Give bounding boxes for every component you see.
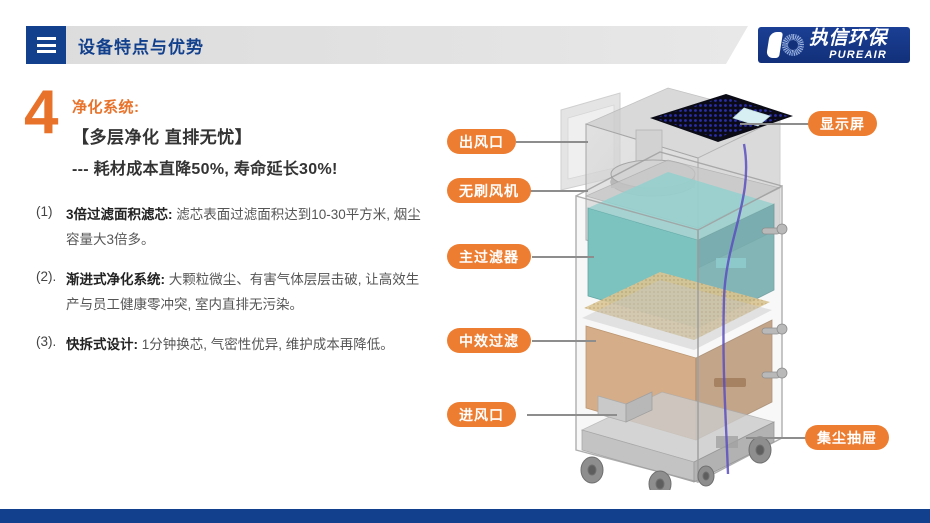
leader-line-air-outlet [516,141,588,143]
list-item-body: 3倍过滤面积滤芯: 滤芯表面过滤面积达到10-30平方米, 烟尘容量大3倍多。 [66,203,426,253]
list-item: (3). 快拆式设计: 1分钟换芯, 气密性优异, 维护成本再降低。 [36,333,426,358]
page-title: 设备特点与优势 [78,26,204,64]
list-item-bold: 快拆式设计: [66,337,138,352]
list-item-bold: 渐进式净化系统: [66,272,165,287]
device-illustration [548,78,808,490]
list-item: (1) 3倍过滤面积滤芯: 滤芯表面过滤面积达到10-30平方米, 烟尘容量大3… [36,203,426,253]
leader-line-display-screen [740,123,812,125]
section-subtitle: 净化系统: [72,96,432,117]
brand-logo: 执信环保 PUREAIR [758,27,910,63]
section-headline: 【多层净化 直排无忧】 [72,123,432,148]
footer-bar [0,509,930,523]
callout-display-screen[interactable]: 显示屏 [808,111,877,136]
list-item-body: 快拆式设计: 1分钟换芯, 气密性优异, 维护成本再降低。 [66,333,394,358]
leader-line-main-filter [532,256,594,258]
section-headings: 净化系统: 【多层净化 直排无忧】 --- 耗材成本直降50%, 寿命延长30%… [72,96,432,179]
menu-button[interactable] [26,26,66,64]
hamburger-icon [37,37,56,53]
list-item-bold: 3倍过滤面积滤芯: [66,207,173,222]
slide-root: 设备特点与优势 执信环保 PUREAIR 4 净化系统: 【多层净化 直排无忧】… [0,0,930,523]
callout-air-outlet[interactable]: 出风口 [447,129,516,154]
list-item-index: (3). [36,333,66,358]
leader-line-air-inlet [527,414,617,416]
list-item-index: (1) [36,203,66,253]
callout-main-filter[interactable]: 主过滤器 [447,244,531,269]
list-item: (2). 渐进式净化系统: 大颗粒微尘、有害气体层层击破, 让高效生产与员工健康… [36,268,426,318]
callout-medium-filter[interactable]: 中效过滤 [447,328,531,353]
list-item-body: 渐进式净化系统: 大颗粒微尘、有害气体层层击破, 让高效生产与员工健康零冲突, … [66,268,426,318]
leader-line-dust-drawer [746,437,810,439]
logo-chinese-name: 执信环保 [809,29,887,48]
logo-english-name: PUREAIR [809,50,887,61]
pureair-mark-icon [765,30,807,60]
list-item-text: 1分钟换芯, 气密性优异, 维护成本再降低。 [138,337,394,352]
leader-line-medium-filter [532,340,596,342]
list-item-index: (2). [36,268,66,318]
callout-dust-drawer[interactable]: 集尘抽屉 [805,425,889,450]
callout-air-inlet[interactable]: 进风口 [447,402,516,427]
section-number: 4 [24,84,58,143]
callout-brushless-fan[interactable]: 无刷风机 [447,178,531,203]
feature-list: (1) 3倍过滤面积滤芯: 滤芯表面过滤面积达到10-30平方米, 烟尘容量大3… [36,203,426,373]
section-tagline: --- 耗材成本直降50%, 寿命延长30%! [72,155,432,179]
leader-line-brushless-fan [528,190,588,192]
